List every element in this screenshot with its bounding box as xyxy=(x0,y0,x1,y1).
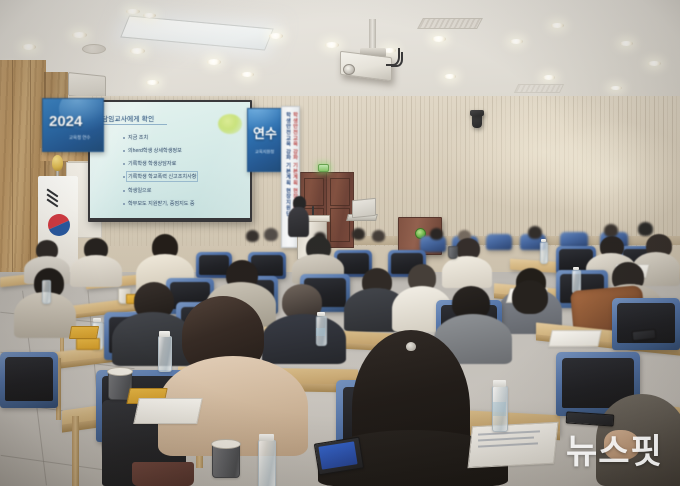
ceiling-downlight xyxy=(510,39,523,44)
ceiling-downlight xyxy=(72,32,87,38)
desk-leg xyxy=(72,416,79,486)
ceiling-downlight xyxy=(620,41,633,46)
ceiling-downlight xyxy=(241,72,254,77)
banner-right-subtitle: 교육지원청 xyxy=(255,149,274,155)
attendee-head xyxy=(246,230,259,242)
wall-acoustic-panel xyxy=(330,96,680,246)
chair-backrest xyxy=(5,357,53,401)
banner-left: 2024 교육청 연수 xyxy=(42,98,104,152)
ceiling-downlight xyxy=(146,80,159,85)
cup-rim xyxy=(107,367,133,376)
water-bottle xyxy=(258,440,276,486)
attendee-head xyxy=(264,228,278,241)
projector-mount-pole xyxy=(369,19,376,51)
presenter-body xyxy=(288,207,309,237)
projector-cable xyxy=(391,52,403,67)
ceiling-downlight xyxy=(22,44,36,50)
banner-vertical-text: 학생안전교육 강화 기본계획 현장지원단 xyxy=(285,112,292,217)
ceiling-downlight xyxy=(143,13,156,18)
slide-bullet: 학부모도 지원받기, 중점지도 중 xyxy=(128,200,195,207)
projection-screen: 담임교사에게 확인 지금 조치 의herd학생 상세학생정보 기록학생 학생상담… xyxy=(90,102,250,218)
handout-paper xyxy=(548,330,602,347)
lecture-hall-photo: 담임교사에게 확인 지금 조치 의herd학생 상세학생정보 기록학생 학생상담… xyxy=(0,0,680,486)
chair-backrest xyxy=(199,255,229,275)
bottle-cap xyxy=(317,312,325,316)
attendee-head xyxy=(512,280,548,314)
paper-cup xyxy=(448,246,458,259)
attendee-head xyxy=(372,230,385,242)
ceiling-downlight xyxy=(551,23,564,28)
attendee-head xyxy=(352,228,365,240)
ceiling-downlight xyxy=(207,59,221,65)
slide-bullet: 학생일으로 xyxy=(128,187,151,194)
attendee-shoulders xyxy=(442,256,492,288)
ceiling-downlight xyxy=(648,61,661,66)
attendee-shoulders xyxy=(70,255,122,287)
bottle-label xyxy=(316,328,325,336)
bottle-cap xyxy=(259,434,274,441)
bottle-label xyxy=(492,402,506,416)
banner-left-title: 2024 xyxy=(49,113,82,130)
handbag xyxy=(132,462,194,486)
ceiling-downlight xyxy=(444,74,456,79)
chair xyxy=(0,352,58,408)
banner-left-subtitle: 교육청 연수 xyxy=(69,135,90,141)
door-panel xyxy=(304,178,324,206)
ceiling-downlight xyxy=(325,42,339,48)
chair xyxy=(486,234,512,250)
bottle-cap xyxy=(541,239,546,242)
ceiling-air-grille xyxy=(514,84,564,93)
slide-title: 담임교사에게 확인 xyxy=(102,113,154,123)
bottle-cap xyxy=(93,318,101,322)
bottle-cap xyxy=(493,380,506,387)
attendee-hand xyxy=(604,430,640,460)
door-panel xyxy=(330,178,350,206)
projector-lens xyxy=(343,64,355,75)
ceiling-vent xyxy=(82,44,106,54)
slide-bullet: 기록학생 학교폭력 신고조치사항 xyxy=(128,173,196,180)
handout-paper xyxy=(133,398,203,424)
presenter-laptop xyxy=(352,198,376,219)
water-bottle xyxy=(540,242,548,264)
ceiling-downlight xyxy=(432,36,446,42)
ceiling-downlight xyxy=(130,48,145,54)
flag-finial xyxy=(52,155,63,171)
cup-rim xyxy=(211,439,241,449)
attendee-head xyxy=(528,226,542,239)
ceiling-downlight xyxy=(126,9,140,14)
water-bottle xyxy=(42,280,51,304)
bottle-cap xyxy=(159,331,170,337)
slide-decoration-blob xyxy=(218,114,242,134)
chair xyxy=(612,298,680,350)
ceiling-downlight xyxy=(543,75,555,80)
snack-item xyxy=(69,326,99,339)
snack-item xyxy=(76,338,100,350)
emergency-exit-sign xyxy=(318,164,329,172)
slide-bullet: 의herd학생 상세학생정보 xyxy=(128,147,182,154)
attendee-hair-clip xyxy=(406,342,416,351)
ceiling-downlight xyxy=(269,33,283,39)
wood-seam xyxy=(12,60,13,288)
slide-bullet: 지금 조치 xyxy=(128,134,148,141)
attendee-head xyxy=(430,228,443,240)
water-bottle xyxy=(158,336,172,372)
slide-bullet: 기록학생 학생상담자료 xyxy=(128,160,176,167)
bottle-cap xyxy=(573,267,579,270)
ceiling-air-grille xyxy=(417,18,483,29)
wall-speaker xyxy=(470,110,484,116)
slide-title-underline xyxy=(101,124,167,125)
banner-right-title: 연수 xyxy=(253,123,277,142)
attendee-shoulders xyxy=(262,314,346,364)
attendee-head xyxy=(638,222,653,236)
wood-seam xyxy=(30,60,31,288)
ceiling-downlight xyxy=(610,86,622,90)
